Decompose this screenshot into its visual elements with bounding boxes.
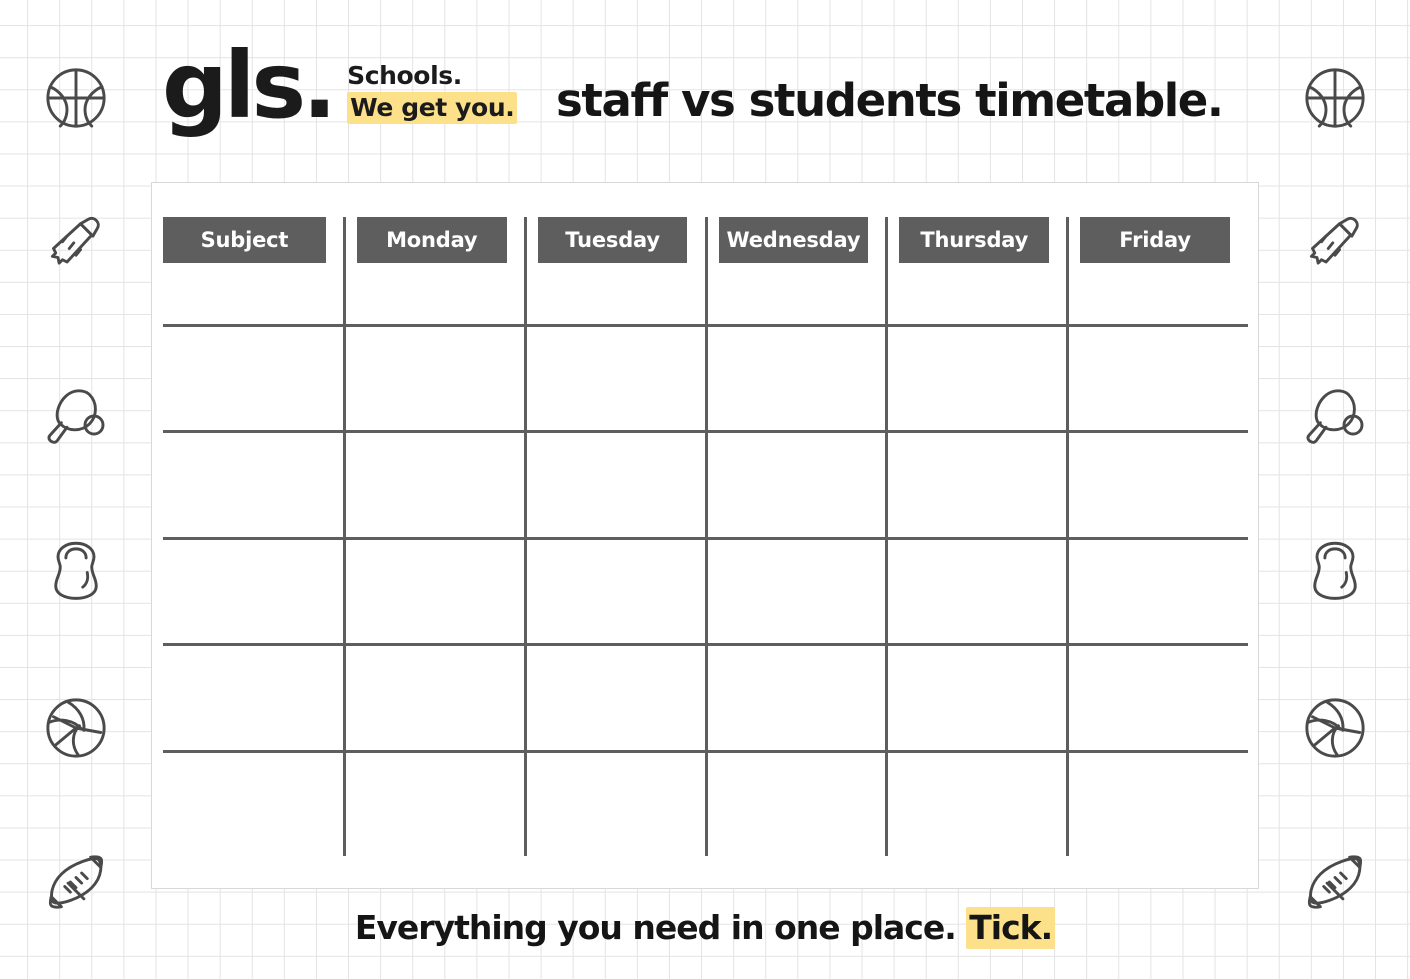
timetable-cell[interactable] bbox=[1067, 430, 1248, 537]
timetable-cell[interactable] bbox=[1067, 217, 1248, 324]
timetable-cell[interactable] bbox=[163, 750, 344, 857]
kettlebell-icon bbox=[1299, 532, 1371, 604]
timetable-cell[interactable] bbox=[525, 430, 706, 537]
brand-logo-wordmark: gls. bbox=[162, 48, 333, 123]
basketball-icon bbox=[1299, 62, 1371, 134]
timetable-cell[interactable] bbox=[344, 537, 525, 644]
timetable-cell[interactable] bbox=[163, 430, 344, 537]
timetable-cell[interactable] bbox=[344, 643, 525, 750]
right-decoration-column bbox=[1275, 0, 1395, 979]
timetable-cell[interactable] bbox=[525, 537, 706, 644]
timetable-page: gls. Schools. We get you. staff vs stude… bbox=[0, 0, 1410, 979]
timetable-cell[interactable] bbox=[1067, 324, 1248, 431]
footer-tagline-plain: Everything you need in one place. bbox=[355, 908, 966, 947]
timetable-cell[interactable] bbox=[886, 217, 1067, 324]
timetable-cell[interactable] bbox=[886, 750, 1067, 857]
shuttlecock-icon bbox=[40, 208, 112, 280]
table-tennis-paddle-icon bbox=[40, 380, 112, 452]
footer-tagline: Everything you need in one place. Tick. bbox=[0, 908, 1410, 947]
timetable-cell[interactable] bbox=[344, 217, 525, 324]
timetable-cell[interactable] bbox=[706, 324, 887, 431]
brand-tagline-highlight: We get you. bbox=[347, 92, 517, 124]
timetable-cell[interactable] bbox=[886, 430, 1067, 537]
shuttlecock-icon bbox=[1299, 208, 1371, 280]
timetable-cell[interactable] bbox=[1067, 750, 1248, 857]
kettlebell-icon bbox=[40, 532, 112, 604]
timetable-cell[interactable] bbox=[525, 643, 706, 750]
timetable-cell[interactable] bbox=[163, 324, 344, 431]
timetable-grid: SubjectMondayTuesdayWednesdayThursdayFri… bbox=[151, 182, 1259, 889]
brand-tagline-line-1: Schools. bbox=[347, 60, 462, 92]
timetable-cell[interactable] bbox=[163, 217, 344, 324]
timetable-cell[interactable] bbox=[706, 430, 887, 537]
page-header: gls. Schools. We get you. staff vs stude… bbox=[0, 0, 1410, 175]
timetable-cell[interactable] bbox=[706, 537, 887, 644]
timetable-cell[interactable] bbox=[525, 217, 706, 324]
timetable-cell[interactable] bbox=[1067, 537, 1248, 644]
timetable-cell[interactable] bbox=[886, 537, 1067, 644]
timetable-cell[interactable] bbox=[706, 750, 887, 857]
volleyball-icon bbox=[1299, 692, 1371, 764]
table-tennis-paddle-icon bbox=[1299, 380, 1371, 452]
timetable-cell[interactable] bbox=[525, 750, 706, 857]
volleyball-icon bbox=[40, 692, 112, 764]
timetable-cell[interactable] bbox=[525, 324, 706, 431]
football-icon bbox=[40, 846, 112, 918]
basketball-icon bbox=[40, 62, 112, 134]
timetable-cell[interactable] bbox=[1067, 643, 1248, 750]
football-icon bbox=[1299, 846, 1371, 918]
timetable-cell[interactable] bbox=[163, 643, 344, 750]
timetable-cell[interactable] bbox=[344, 324, 525, 431]
timetable-cell[interactable] bbox=[886, 643, 1067, 750]
timetable-cell[interactable] bbox=[344, 430, 525, 537]
timetable-cell[interactable] bbox=[163, 537, 344, 644]
footer-tagline-highlight: Tick. bbox=[966, 907, 1055, 949]
brand-logo: gls. Schools. We get you. bbox=[162, 42, 517, 124]
timetable-cell[interactable] bbox=[344, 750, 525, 857]
timetable-cell[interactable] bbox=[706, 217, 887, 324]
page-title: staff vs students timetable. bbox=[556, 74, 1223, 127]
left-decoration-column bbox=[16, 0, 136, 979]
timetable-cell[interactable] bbox=[706, 643, 887, 750]
brand-logo-tagline: Schools. We get you. bbox=[347, 60, 517, 124]
timetable-cell[interactable] bbox=[886, 324, 1067, 431]
brand-tagline-line-2: We get you. bbox=[347, 92, 517, 124]
